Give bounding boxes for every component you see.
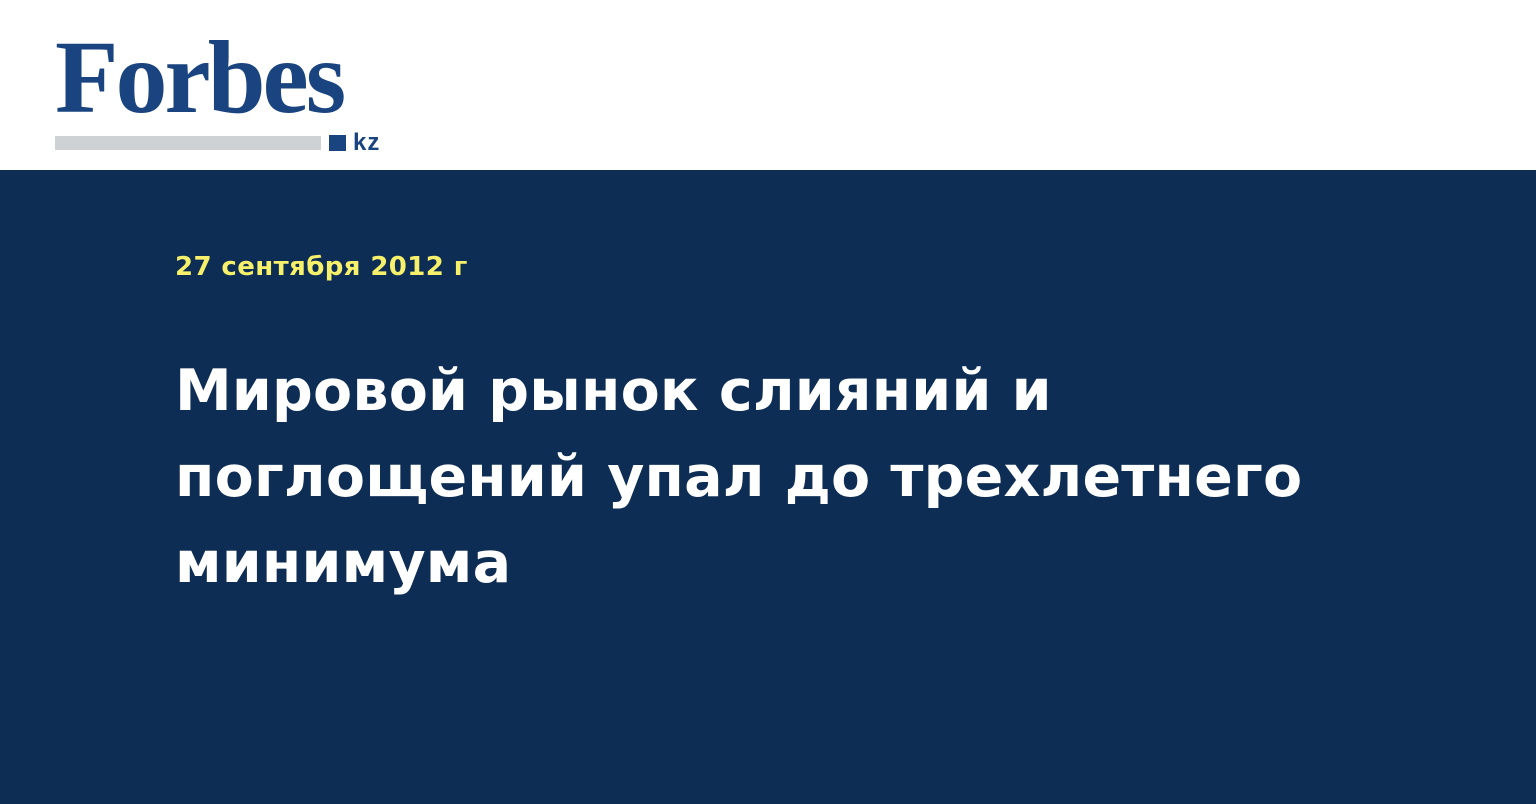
forbes-kz-logo[interactable]: Forbes kz <box>55 26 415 146</box>
article-headline: Мировой рынок слияний и поглощений упал … <box>175 348 1350 606</box>
logo-rule-bar <box>55 136 321 150</box>
article-hero-content: 27 сентября 2012 г Мировой рынок слияний… <box>175 252 1375 606</box>
logo-kz-suffix: kz <box>353 132 380 154</box>
article-hero-band: 27 сентября 2012 г Мировой рынок слияний… <box>0 170 1536 804</box>
logo-square-icon <box>329 135 346 151</box>
site-masthead: Forbes kz <box>0 0 1536 170</box>
forbes-wordmark: Forbes <box>55 26 415 130</box>
article-publish-date: 27 сентября 2012 г <box>175 252 1375 282</box>
logo-under-row: kz <box>55 132 407 154</box>
article-header-page: Forbes kz 27 сентября 2012 г Мировой рын… <box>0 0 1536 804</box>
